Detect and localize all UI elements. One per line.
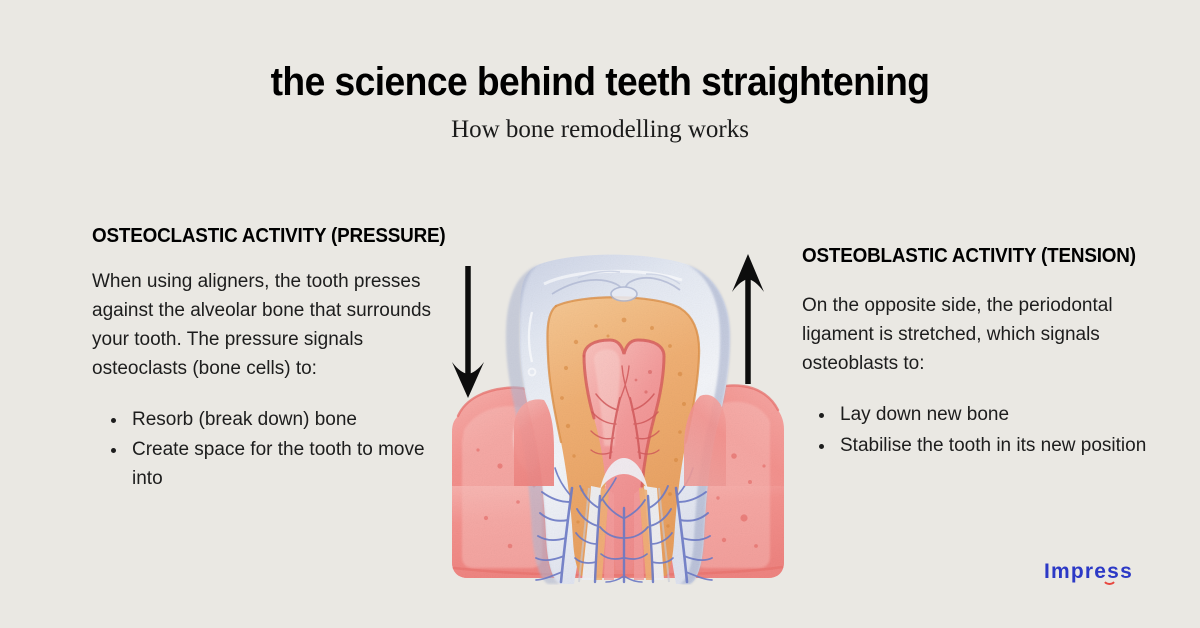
list-item: Stabilise the tooth in its new position	[836, 432, 1162, 461]
gum-left-front-lip	[514, 399, 554, 486]
infographic-canvas: the science behind teeth straightening H…	[0, 0, 1200, 628]
left-column: OSTEOCLASTIC ACTIVITY (PRESSURE) When us…	[92, 224, 437, 496]
right-column-bullet-list: Lay down new bone Stabilise the tooth in…	[802, 401, 1162, 461]
right-column-body: On the opposite side, the periodontal li…	[802, 292, 1162, 379]
arrow-up-icon	[728, 252, 768, 392]
right-column: OSTEOBLASTIC ACTIVITY (TENSION) On the o…	[802, 244, 1162, 462]
page-subtitle: How bone remodelling works	[0, 115, 1200, 145]
header: the science behind teeth straightening H…	[0, 60, 1200, 145]
list-item: Create space for the tooth to move into	[128, 436, 437, 494]
right-column-heading: OSTEOBLASTIC ACTIVITY (TENSION)	[802, 244, 1133, 268]
list-item: Lay down new bone	[836, 401, 1162, 430]
left-column-heading: OSTEOCLASTIC ACTIVITY (PRESSURE)	[92, 224, 409, 248]
page-title: the science behind teeth straightening	[42, 60, 1158, 105]
left-column-body: When using aligners, the tooth presses a…	[92, 268, 437, 384]
impress-logo[interactable]: Impress	[1044, 558, 1144, 586]
left-column-bullet-list: Resorb (break down) bone Create space fo…	[92, 406, 437, 495]
list-item: Resorb (break down) bone	[128, 406, 437, 435]
arrow-down-icon	[448, 262, 488, 402]
logo-wordmark: Impress	[1044, 558, 1144, 586]
